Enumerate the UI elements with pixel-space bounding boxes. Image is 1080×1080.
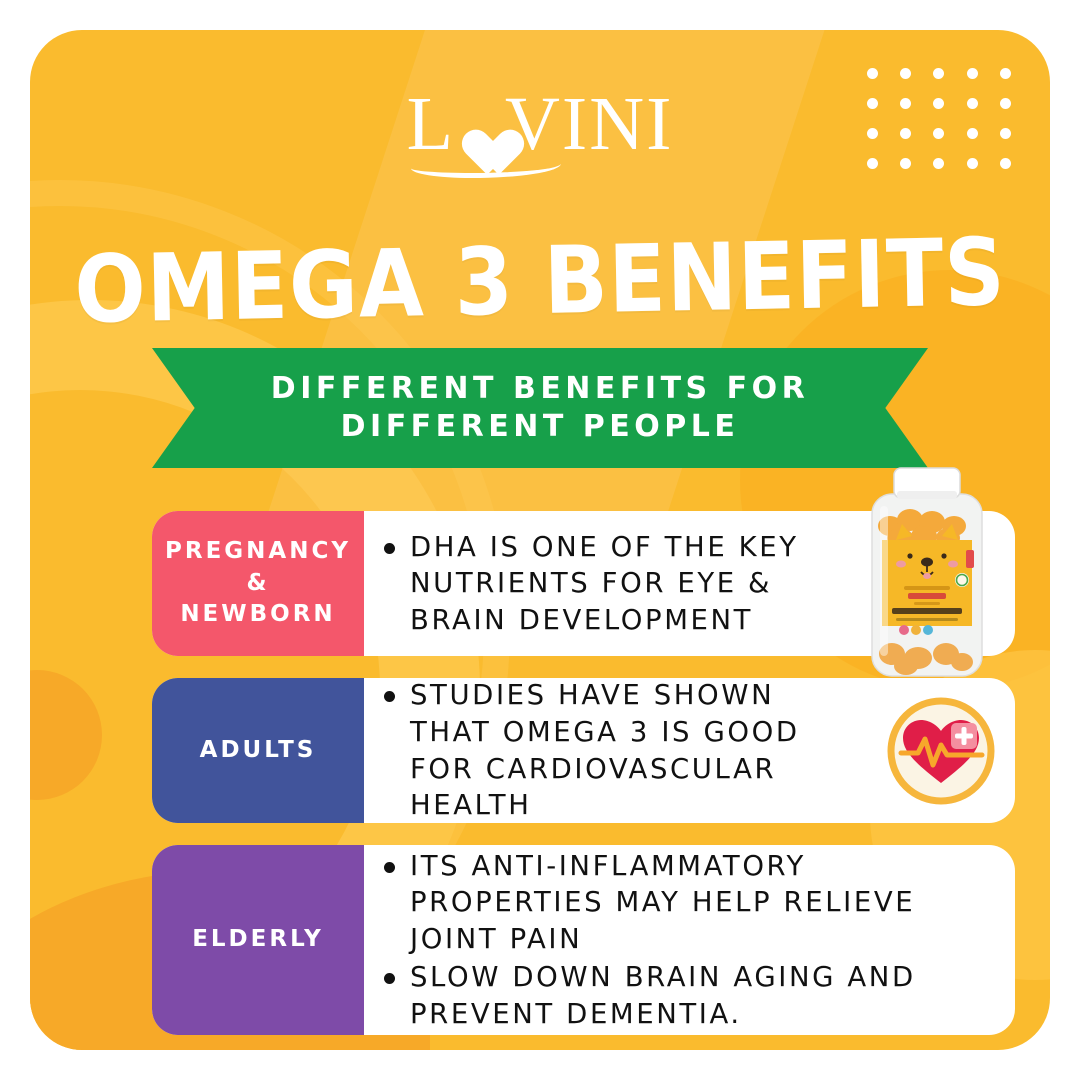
row-body-adults: STUDIES HAVE SHOWN THAT OMEGA 3 IS GOOD … [364, 678, 1015, 823]
ribbon-line-1: DIFFERENT BENEFITS FOR [271, 370, 809, 408]
page-title: OMEGA 3 BENEFITS [30, 225, 1050, 338]
logo-letter-l: L [407, 86, 455, 176]
bullet-list-elderly: ITS ANTI-INFLAMMATORY PROPERTIES MAY HEL… [378, 848, 997, 1033]
ribbon-text: DIFFERENT BENEFITS FOR DIFFERENT PEOPLE [271, 370, 809, 447]
ribbon-line-2: DIFFERENT PEOPLE [271, 408, 809, 446]
list-item: ITS ANTI-INFLAMMATORY PROPERTIES MAY HEL… [378, 848, 997, 958]
list-item: SLOW DOWN BRAIN AGING AND PREVENT DEMENT… [378, 959, 997, 1032]
poster-card: L VINI OMEGA 3 BENEFITS DIFFERENT BENEFI… [30, 30, 1050, 1050]
row-label-elderly: ELDERLY [152, 845, 364, 1035]
heart-icon [451, 105, 507, 157]
row-label-pregnancy: PREGNANCY & NEWBORN [152, 511, 364, 656]
gummy-bottle-image [866, 458, 988, 682]
brand-logo: L VINI [30, 86, 1050, 176]
benefit-row-elderly: ELDERLY ITS ANTI-INFLAMMATORY PROPERTIES… [152, 845, 1015, 1035]
row-label-adults: ADULTS [152, 678, 364, 823]
row-body-elderly: ITS ANTI-INFLAMMATORY PROPERTIES MAY HEL… [364, 845, 1015, 1035]
subtitle-ribbon: DIFFERENT BENEFITS FOR DIFFERENT PEOPLE [152, 348, 928, 468]
list-item: STUDIES HAVE SHOWN THAT OMEGA 3 IS GOOD … [378, 678, 879, 823]
benefit-row-adults: ADULTS STUDIES HAVE SHOWN THAT OMEGA 3 I… [152, 678, 1015, 823]
heart-cardio-icon [887, 697, 995, 805]
